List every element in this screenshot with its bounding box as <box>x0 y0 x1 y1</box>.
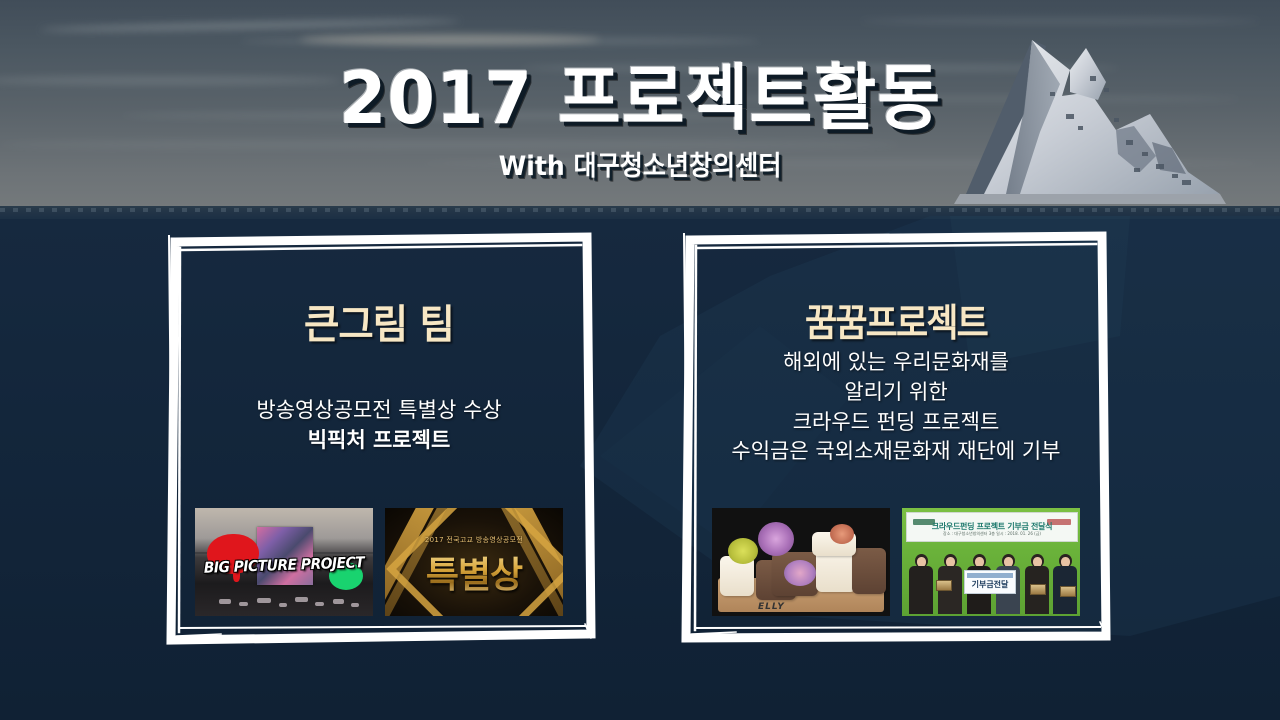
cloud-streak-icon <box>40 18 460 34</box>
card-photo-row: ELLY 크라우드펀딩 프로젝트 기부금 전달식 장소 : 대구청소년창의센터 … <box>698 508 1094 616</box>
award-headline: 특별상 <box>385 546 563 598</box>
flower-bouquet-icon <box>758 522 794 556</box>
flower-bouquet-icon <box>728 538 758 564</box>
card-body: 큰그림 팀 방송영상공모전 특별상 수상 빅픽처 프로젝트 <box>181 250 577 626</box>
card-description-line: 알리기 위한 <box>698 378 1094 408</box>
photo-big-picture-project[interactable]: BIG PICTURE PROJECT <box>195 508 373 616</box>
slide-canvas: 2017 프로젝트활동 With 대구청소년창의센터 큰그림 팀 방송영상공모전… <box>0 0 1280 720</box>
card-body: 꿈꿈프로젝트 해외에 있는 우리문화재를 알리기 위한 크라우드 펀딩 프로젝트… <box>698 250 1094 626</box>
crowd-specks <box>195 590 373 610</box>
person <box>1050 554 1080 616</box>
card-description-line: 빅픽처 프로젝트 <box>181 426 577 456</box>
card-description: 해외에 있는 우리문화재를 알리기 위한 크라우드 펀딩 프로젝트 수익금은 국… <box>698 348 1094 467</box>
card-big-picture-team[interactable]: 큰그림 팀 방송영상공모전 특별상 수상 빅픽처 프로젝트 <box>155 228 603 648</box>
card-description-line: 수익금은 국외소재문화재 재단에 기부 <box>698 437 1094 467</box>
card-description-line: 방송영상공모전 특별상 수상 <box>181 396 577 426</box>
sign-text: 기부금전달 <box>965 579 1015 590</box>
card-title: 큰그림 팀 <box>189 292 569 350</box>
award-plaque <box>936 580 952 591</box>
page-title: 2017 프로젝트활동 <box>32 62 1248 134</box>
donation-sign: 기부금전달 <box>964 570 1016 594</box>
card-description-line: 크라우드 펀딩 프로젝트 <box>698 408 1094 438</box>
photo-special-award[interactable]: 2017 전국고교 방송영상공모전 특별상 <box>385 508 563 616</box>
photo-elly-gift-set[interactable]: ELLY <box>712 508 890 616</box>
towel-roll <box>852 548 886 594</box>
card-kkumkkum-project[interactable]: 꿈꿈프로젝트 해외에 있는 우리문화재를 알리기 위한 크라우드 펀딩 프로젝트… <box>672 228 1120 648</box>
award-plaque <box>1030 584 1046 595</box>
page-subtitle: With 대구청소년창의센터 <box>45 144 1235 183</box>
person <box>906 554 936 616</box>
card-title: 꿈꿈프로젝트 <box>714 292 1078 347</box>
title-block: 2017 프로젝트활동 With 대구청소년창의센터 <box>0 62 1280 183</box>
flower-bouquet-icon <box>784 560 816 586</box>
card-description-line: 해외에 있는 우리문화재를 <box>698 348 1094 378</box>
banner-subtext: 장소 : 대구청소년창의센터 3층 일시 : 2018. 01. 26 (금) <box>907 531 1077 537</box>
sign-header-bar <box>967 573 1013 578</box>
award-plaque <box>1060 586 1076 597</box>
sea-glint <box>0 208 1280 212</box>
event-banner: 크라우드펀딩 프로젝트 기부금 전달식 장소 : 대구청소년창의센터 3층 일시… <box>906 512 1078 542</box>
photo-donation-ceremony[interactable]: 크라우드펀딩 프로젝트 기부금 전달식 장소 : 대구청소년창의센터 3층 일시… <box>902 508 1080 616</box>
brand-label: ELLY <box>758 602 785 612</box>
card-description: 방송영상공모전 특별상 수상 빅픽처 프로젝트 <box>181 396 577 456</box>
flower-bouquet-icon <box>830 524 854 544</box>
cloud-streak-icon <box>300 34 600 45</box>
card-photo-row: BIG PICTURE PROJECT 2017 전국고교 방송영상공모전 특별… <box>181 508 577 616</box>
award-subhead: 2017 전국고교 방송영상공모전 <box>385 535 563 545</box>
